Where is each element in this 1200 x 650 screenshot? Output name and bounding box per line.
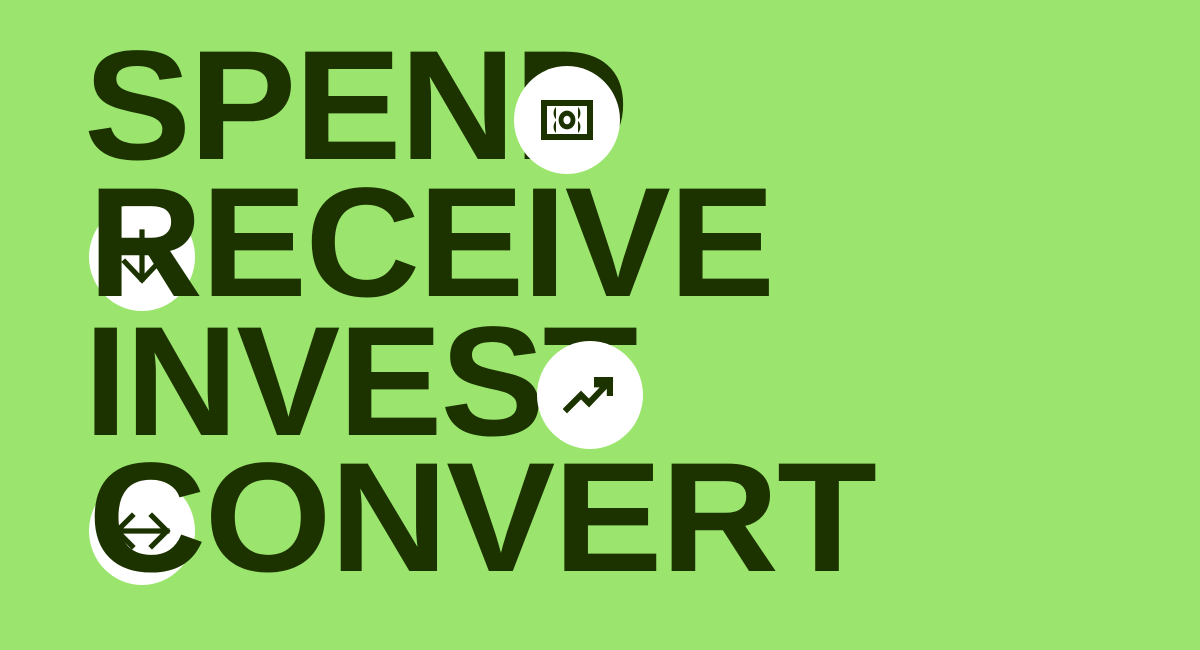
word-receive: RECEIVE — [88, 183, 773, 305]
word-row-receive: RECEIVE — [88, 183, 760, 305]
banknote-icon — [541, 100, 593, 140]
trending-up-icon — [563, 373, 617, 417]
word-row-convert: CONVERT — [88, 458, 838, 580]
word-convert: CONVERT — [88, 458, 875, 580]
promo-poster: SPEND RECEIVE INVEST — [0, 0, 1200, 650]
